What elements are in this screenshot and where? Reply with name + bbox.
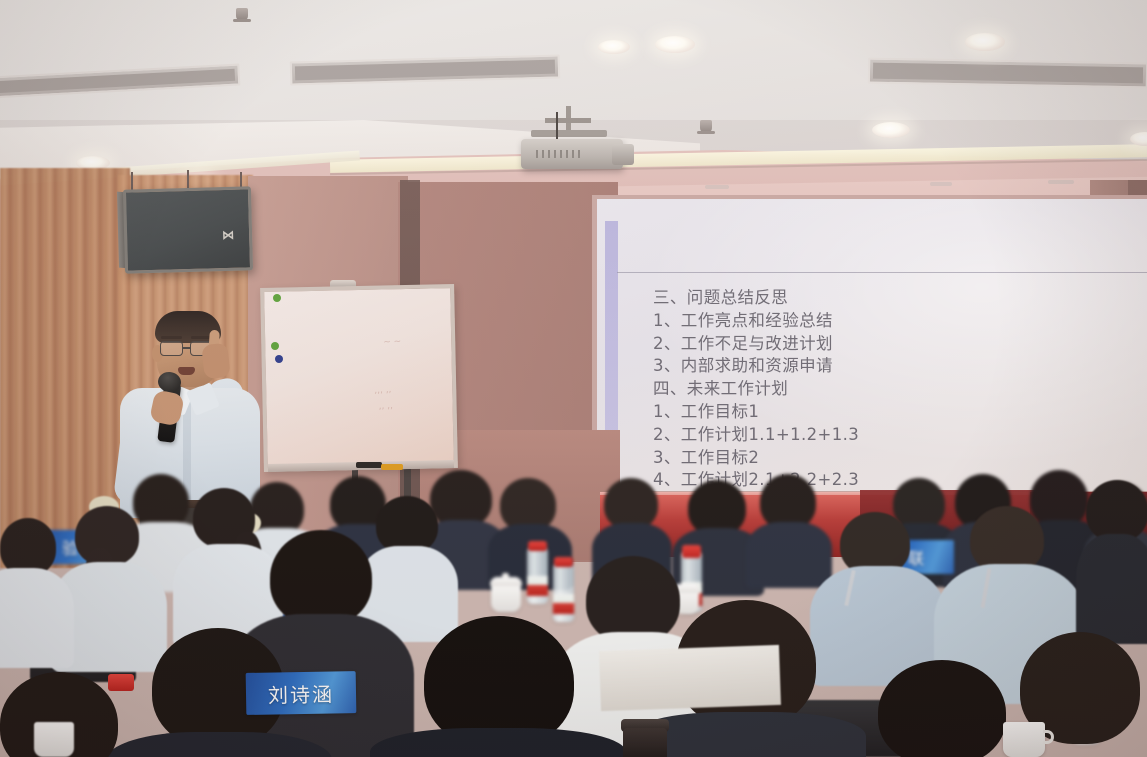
presenter-glasses-left-lens (160, 341, 183, 356)
ceiling-downlight-1 (655, 36, 695, 53)
body (1076, 534, 1147, 644)
head (1086, 480, 1147, 542)
desk-surface-center (599, 645, 781, 711)
slide-line-7: 2、工作计划1.1+1.2+1.3 (653, 424, 1133, 447)
slide-line-2: 1、工作亮点和经验总结 (653, 310, 1133, 333)
whiteboard-mark-1: ~ ~ (383, 337, 401, 348)
projector-lens-icon (612, 144, 634, 165)
whiteboard: ~ ~ ,,, ,, ,, ,, (260, 284, 458, 472)
teacup-handle (1043, 730, 1054, 744)
teacup-1[interactable] (491, 584, 521, 612)
name-placard-1: 刘诗涵 (246, 671, 357, 715)
water-bottle-3[interactable] (553, 564, 574, 622)
slide-line-6: 1、工作目标1 (653, 401, 1133, 424)
whiteboard-marker-black[interactable] (356, 462, 382, 468)
whiteboard-marker-orange[interactable] (381, 464, 403, 470)
sprinkler-head-1 (700, 120, 712, 133)
presenter-glasses-bridge (183, 347, 190, 349)
teacup-knob (502, 573, 509, 578)
whiteboard-magnet-green-1[interactable] (273, 294, 281, 302)
placard-text: 联 (908, 545, 926, 569)
presenter-brow-left (161, 336, 182, 339)
head (878, 660, 1006, 757)
presenter-mouth (178, 367, 195, 375)
bottle-cap-front (108, 674, 134, 691)
projector-vent-grille (536, 150, 580, 158)
bottle-cap-2 (528, 541, 547, 551)
ceiling-downlight-6 (872, 122, 910, 138)
speaker-logo-icon: ⋈ (222, 228, 235, 242)
teacup-front-right[interactable] (1003, 722, 1045, 757)
head (270, 530, 372, 626)
slide-line-8: 3、工作目标2 (653, 447, 1133, 470)
head (586, 556, 680, 644)
ceiling-slot-1 (705, 185, 729, 189)
body (0, 568, 74, 668)
slide-line-1: 三、问题总结反思 (653, 287, 1133, 310)
sprinkler-head-2 (236, 8, 248, 21)
bottle-cap-3 (554, 557, 573, 567)
whiteboard-mark-2: ,,, ,, (374, 385, 392, 396)
projection-screen: 三、问题总结反思 1、工作亮点和经验总结 2、工作不足与改进计划 3、内部求助和… (597, 199, 1147, 491)
whiteboard-mark-3: ,, ,, (378, 401, 393, 412)
bottle-label (527, 576, 548, 596)
whiteboard-magnet-green-2[interactable] (271, 342, 279, 350)
ceiling-downlight-2 (965, 33, 1005, 51)
water-bottle-2[interactable] (527, 548, 548, 604)
ceiling-downlight-3 (598, 40, 630, 54)
whiteboard-magnet-blue[interactable] (275, 355, 283, 363)
ceiling-slot-3 (1048, 180, 1074, 184)
slide-line-3: 2、工作不足与改进计划 (653, 333, 1133, 356)
presenter-right-hand (201, 343, 230, 380)
teacup-lid (490, 577, 522, 586)
slide-line-5: 四、未来工作计划 (653, 378, 1133, 401)
ceiling-slot-2 (930, 182, 952, 186)
thermos-tumbler[interactable] (623, 728, 667, 757)
slide-content: 三、问题总结反思 1、工作亮点和经验总结 2、工作不足与改进计划 3、内部求助和… (653, 287, 1133, 491)
teacup-front-left[interactable] (34, 722, 74, 757)
bottle-label (553, 594, 574, 614)
placard-text: 刘诗涵 (268, 678, 334, 708)
slide-line-4: 3、内部求助和资源申请 (653, 355, 1133, 378)
air-vent-right (868, 58, 1147, 89)
slide-divider-line (617, 272, 1147, 273)
lecture-room-photo: ⋈ 三、问题总结反思 1、工作亮点和经验总结 2、工作不足与改进计划 3、内部求… (0, 0, 1147, 757)
body (746, 522, 832, 588)
body (370, 728, 626, 757)
projector-mount-arm (531, 130, 607, 137)
ceiling-speaker: ⋈ (123, 186, 253, 273)
bottle-cap-4 (682, 545, 701, 558)
